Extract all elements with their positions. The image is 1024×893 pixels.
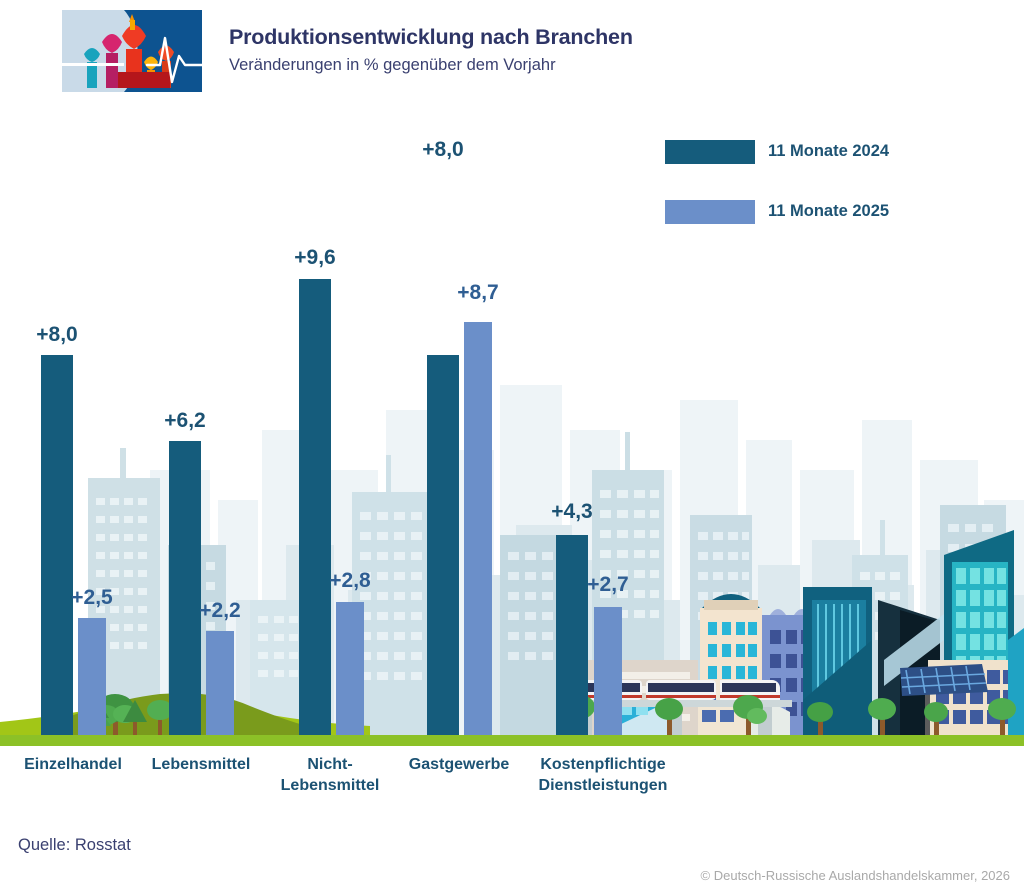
bar-label-2024-lebensmittel: +6,2	[145, 409, 225, 433]
category-line-2: Dienstleistungen	[539, 777, 668, 794]
bar-2024-nicht-lebensmittel[interactable]	[299, 279, 331, 735]
bar-label-2024-dienstleistungen: +4,3	[532, 500, 612, 524]
bar-2025-dienstleistungen[interactable]	[594, 607, 622, 735]
category-line-2: Lebensmittel	[281, 777, 380, 794]
bars-layer: +8,0 +2,5 +6,2 +2,2 +9,6 +2,8 +8,0 +8,7 …	[0, 0, 1024, 750]
bar-label-2024-einzelhandel: +8,0	[17, 323, 97, 347]
bar-2025-einzelhandel[interactable]	[78, 618, 106, 735]
legend-swatch-2025	[665, 200, 755, 224]
bar-2025-gastgewerbe[interactable]	[464, 322, 492, 735]
bar-2024-lebensmittel[interactable]	[169, 441, 201, 735]
copyright-note: © Deutsch-Russische Auslandshandelskamme…	[701, 868, 1010, 883]
bar-2024-gastgewerbe[interactable]	[427, 355, 459, 735]
bar-label-2025-gastgewerbe: +8,7	[438, 281, 518, 305]
legend-label-2024: 11 Monate 2024	[768, 142, 889, 161]
category-line-1: Nicht-	[307, 756, 352, 773]
infographic-page: Produktionsentwicklung nach Branchen Ver…	[0, 0, 1024, 893]
source-note: Quelle: Rosstat	[18, 836, 131, 855]
bar-label-2024-gastgewerbe: +8,0	[403, 138, 483, 162]
category-line-1: Lebensmittel	[152, 756, 251, 773]
category-label-nicht-lebensmittel: Nicht- Lebensmittel	[259, 754, 401, 796]
bar-label-2025-lebensmittel: +2,2	[180, 599, 260, 623]
category-line-1: Gastgewerbe	[409, 756, 509, 773]
category-label-dienstleistungen: Kostenpflichtige Dienstleistungen	[518, 754, 688, 796]
category-label-lebensmittel: Lebensmittel	[130, 754, 272, 775]
category-axis-labels: Einzelhandel Lebensmittel Nicht- Lebensm…	[0, 754, 1024, 814]
bar-2024-dienstleistungen[interactable]	[556, 535, 588, 735]
category-line-1: Einzelhandel	[24, 756, 122, 773]
bar-2024-einzelhandel[interactable]	[41, 355, 73, 735]
bar-2025-lebensmittel[interactable]	[206, 631, 234, 735]
baseline-green-strip	[0, 735, 1024, 746]
category-label-gastgewerbe: Gastgewerbe	[388, 754, 530, 775]
legend-label-2025: 11 Monate 2025	[768, 202, 889, 221]
bar-label-2024-nicht-lebensmittel: +9,6	[275, 246, 355, 270]
category-line-1: Kostenpflichtige	[540, 756, 665, 773]
chart-plot-area: +8,0 +2,5 +6,2 +2,2 +9,6 +2,8 +8,0 +8,7 …	[0, 0, 1024, 750]
legend-swatch-2024	[665, 140, 755, 164]
bar-label-2025-einzelhandel: +2,5	[52, 586, 132, 610]
category-label-einzelhandel: Einzelhandel	[2, 754, 144, 775]
bar-label-2025-nicht-lebensmittel: +2,8	[310, 569, 390, 593]
bar-2025-nicht-lebensmittel[interactable]	[336, 602, 364, 735]
bar-label-2025-dienstleistungen: +2,7	[568, 573, 648, 597]
